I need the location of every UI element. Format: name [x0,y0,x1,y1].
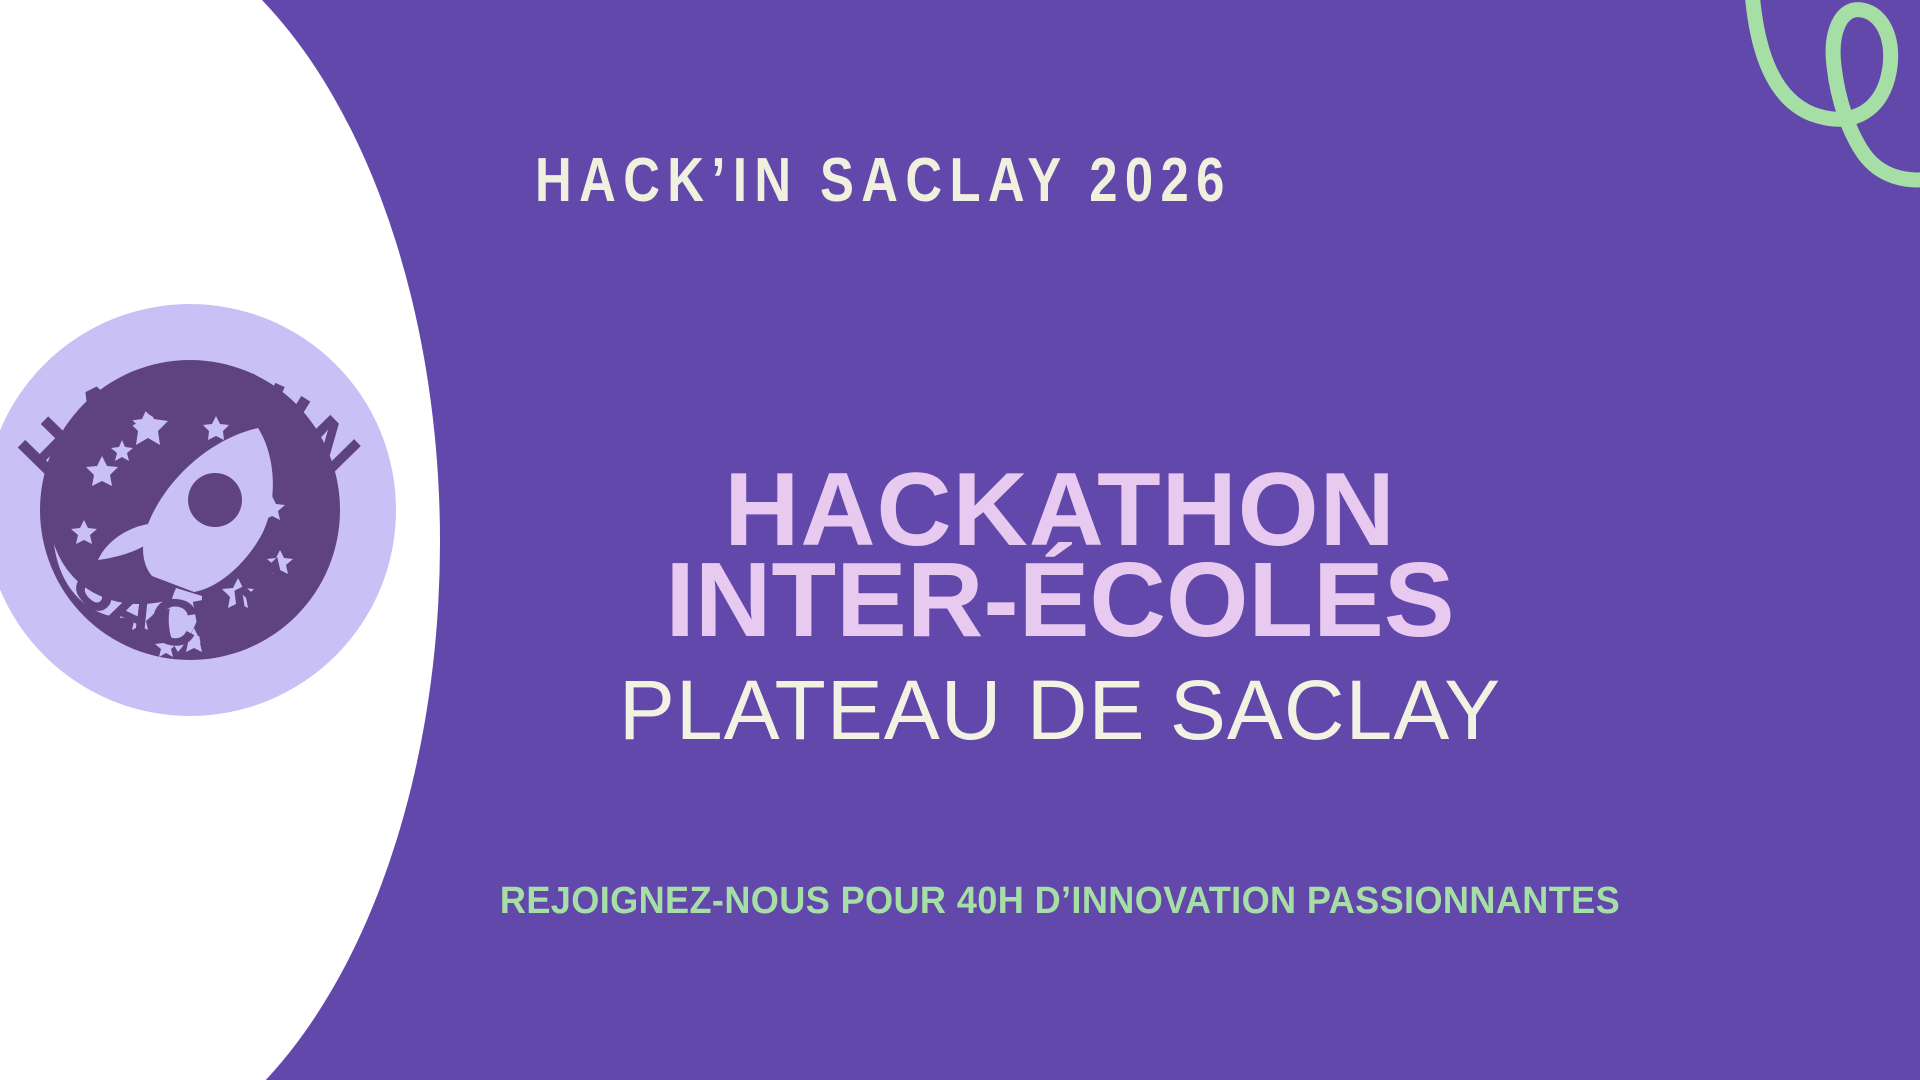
location-subheadline: PLATEAU DE SACLAY [380,668,1740,752]
headline-line-2: INTER-ÉCOLES [380,555,1740,646]
logo-rocket-window [188,473,242,527]
poster-canvas: HACK’IN SACLAY HACK’IN SACLAY 2026 HACKA… [0,0,1920,1080]
headline-block: HACKATHON INTER-ÉCOLES [380,466,1740,647]
content-column: HACK’IN SACLAY 2026 HACKATHON INTER-ÉCOL… [380,0,1920,1080]
event-kicker: HACK’IN SACLAY 2026 [535,150,1232,212]
hackin-saclay-logo: HACK’IN SACLAY [0,288,400,728]
event-tagline: REJOIGNEZ-NOUS POUR 40H D’INNOVATION PAS… [414,880,1706,923]
